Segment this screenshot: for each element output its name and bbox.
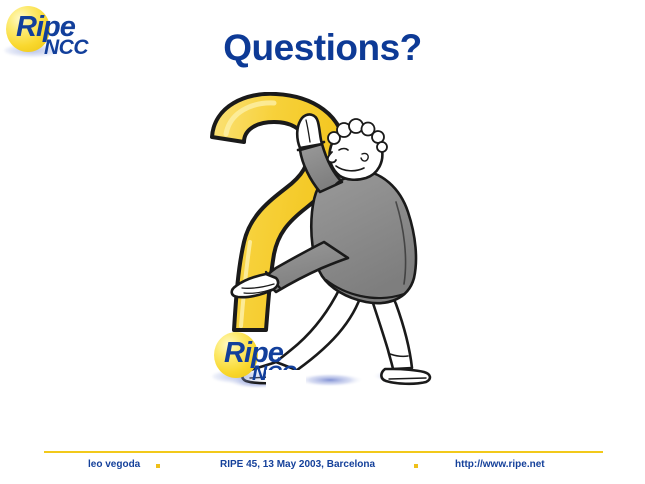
footer-url[interactable]: http://www.ripe.net (455, 458, 545, 472)
illustration-man-carrying-question-mark: Ripe NCC (190, 92, 450, 402)
slide-canvas: Ripe NCC Questions? Ripe NCC (0, 0, 645, 484)
page-title: Questions? (0, 28, 645, 69)
footer-event: RIPE 45, 13 May 2003, Barcelona (220, 458, 375, 472)
footer-separator-dot (414, 464, 418, 468)
footer-author: leo vegoda (88, 458, 140, 472)
footer-separator-dot (156, 464, 160, 468)
footer-divider (44, 451, 603, 453)
inline-logo-occlusion (266, 370, 306, 396)
footer: leo vegoda RIPE 45, 13 May 2003, Barcelo… (0, 458, 645, 474)
